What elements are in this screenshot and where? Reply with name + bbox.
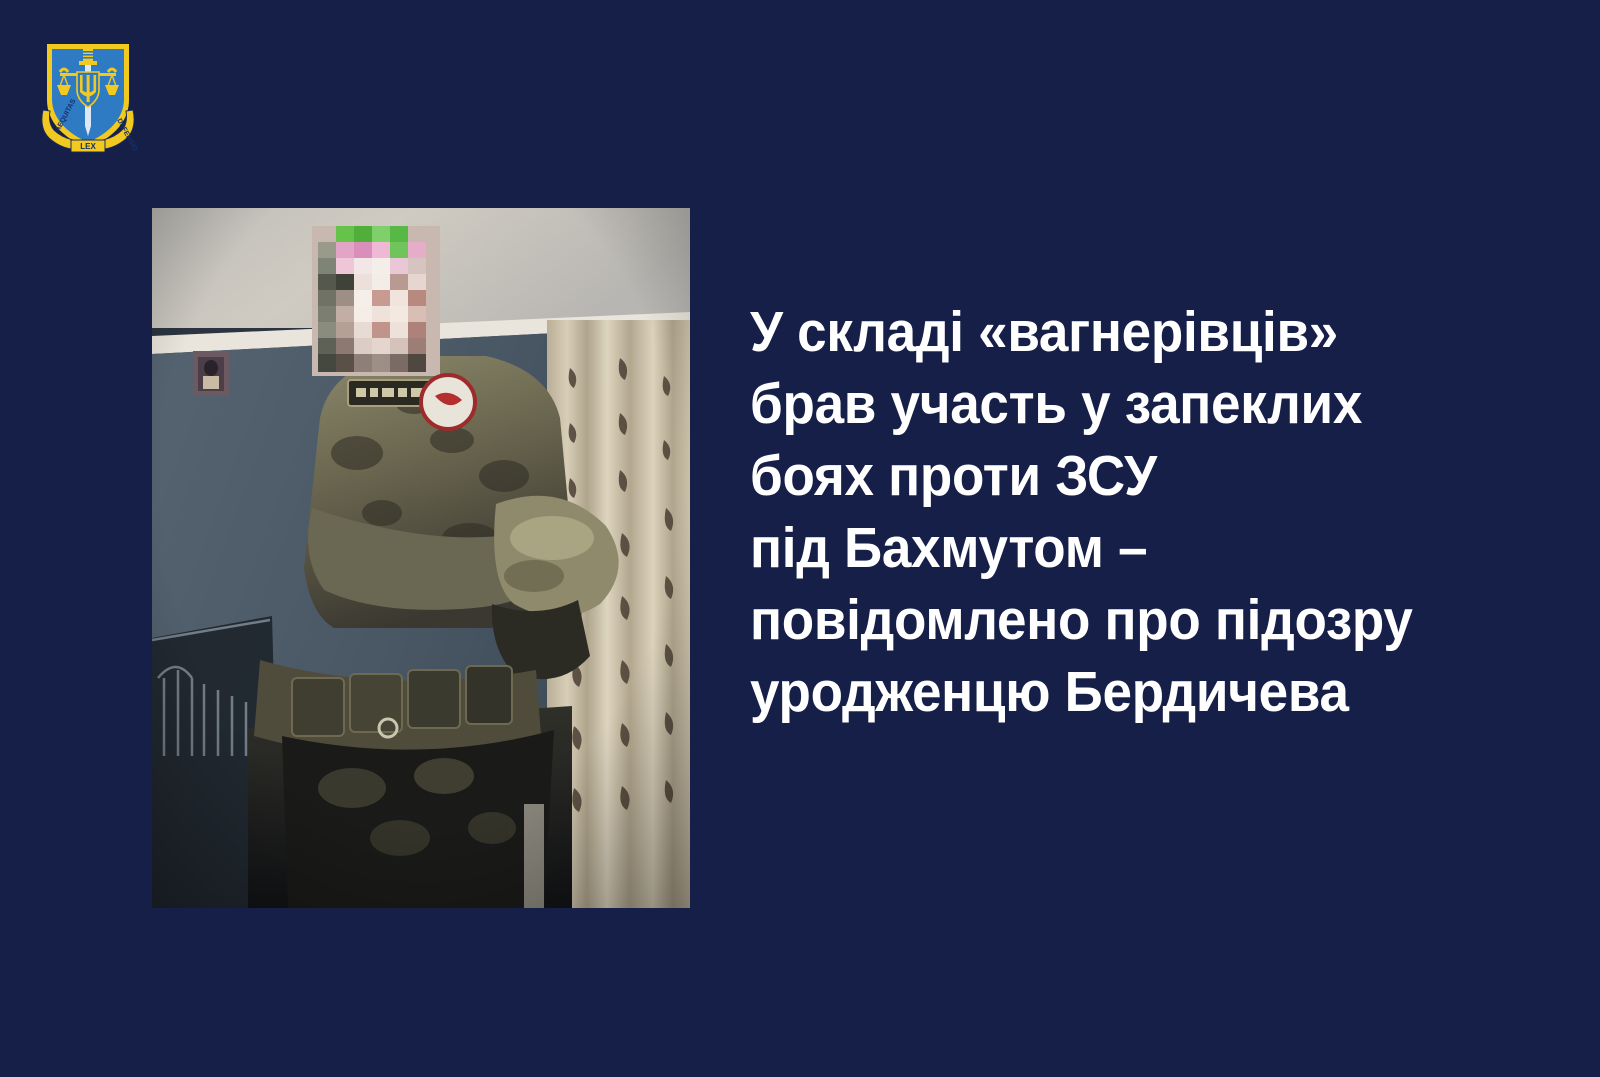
photo-vignette xyxy=(152,208,690,908)
headline-line-6: уродженцю Бердичева xyxy=(750,656,1494,728)
sword-guard xyxy=(79,61,97,65)
emblem-icon: AEQUITAS DEFENSIO LEX xyxy=(33,28,143,156)
poster-canvas: AEQUITAS DEFENSIO LEX xyxy=(0,0,1600,1077)
prosecutor-general-emblem: AEQUITAS DEFENSIO LEX xyxy=(33,28,143,156)
headline-line-1: У складі «вагнерівців» xyxy=(750,296,1494,368)
subject-photograph xyxy=(152,208,690,908)
headline-block: У складі «вагнерівців» брав участь у зап… xyxy=(750,296,1550,728)
ribbon-motto-center: LEX xyxy=(80,142,96,151)
sword-grip-line xyxy=(83,51,93,53)
headline-line-3: боях проти ЗСУ xyxy=(750,440,1494,512)
headline-line-4: під Бахмутом – xyxy=(750,512,1494,584)
headline-line-5: повідомлено про підозру xyxy=(750,584,1494,656)
sword-grip-line xyxy=(83,54,93,56)
headline-line-2: брав участь у запеклих xyxy=(750,368,1494,440)
photo-illustration xyxy=(152,208,690,908)
sword-grip-line xyxy=(83,57,93,59)
